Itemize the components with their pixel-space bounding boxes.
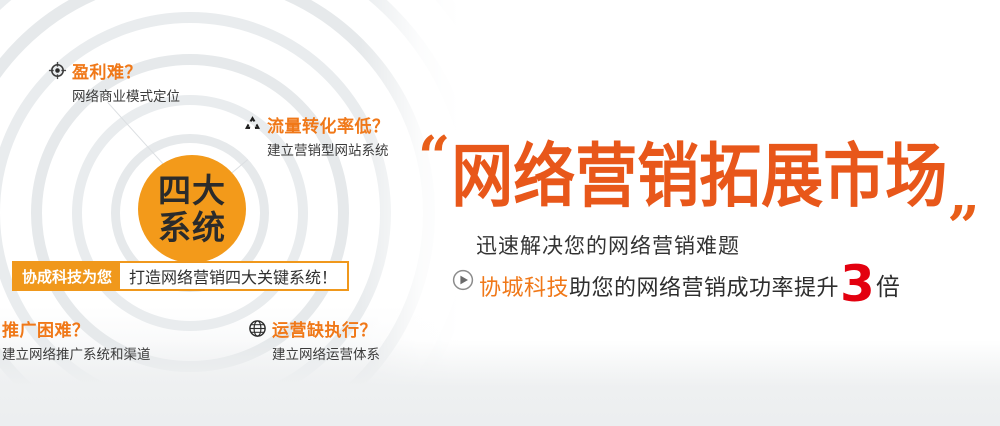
bullet-1-title: 盈利难？ — [72, 58, 142, 83]
bullet-operation-execution: 运营缺执行？ 建立网络运营体系 — [248, 316, 380, 363]
globe-icon — [248, 319, 267, 338]
bullet-4-subtitle: 建立网络运营体系 — [272, 343, 380, 363]
page-title: 网络营销拓展市场 — [451, 133, 947, 220]
bullet-3-title: 推广困难？ — [2, 316, 90, 341]
marketing-banner: 四大 系统 盈利难？ 网络商业模式定位 — [0, 0, 1000, 426]
bullet-2-head: 流量转化率低？ — [243, 112, 390, 137]
tagline-bar-brand: 协成科技为您 — [14, 263, 120, 289]
bullet-3-subtitle: 建立网络推广系统和渠道 — [2, 343, 151, 363]
subheadline-line-1: 迅速解决您的网络营销难题 — [476, 230, 740, 260]
bullet-2-subtitle: 建立营销型网站系统 — [267, 139, 390, 159]
quote-open-icon: “ — [418, 137, 450, 177]
bullet-1-head: 盈利难？ — [48, 58, 180, 83]
headline-row: “ 网络营销拓展市场 „ — [418, 133, 998, 211]
bullet-2-title: 流量转化率低？ — [267, 112, 390, 137]
tagline-bar-message: 打造网络营销四大关键系统！ — [120, 263, 347, 289]
crosshair-target-icon — [48, 61, 67, 80]
bullet-promotion-difficulty: 推广困难？ 建立网络推广系统和渠道 — [2, 316, 151, 363]
bullet-4-head: 运营缺执行？ — [248, 316, 380, 341]
subheadline-line-2-rest: 助您的网络营销成功率提升 — [569, 270, 839, 302]
bullet-low-conversion: 流量转化率低？ 建立营销型网站系统 — [243, 112, 390, 159]
bullet-profit-difficulty: 盈利难？ 网络商业模式定位 — [48, 58, 180, 105]
subheadline-line-2: 协城科技 助您的网络营销成功率提升 3 倍 — [452, 258, 900, 302]
brand-name: 协城科技 — [479, 270, 569, 302]
multiplier-unit: 倍 — [876, 267, 900, 302]
multiplier-number: 3 — [840, 264, 875, 304]
bullet-4-title: 运营缺执行？ — [272, 316, 377, 341]
play-circle-icon — [452, 269, 474, 291]
quote-close-icon: „ — [948, 175, 980, 215]
recycle-icon — [243, 115, 262, 134]
center-circle-line-1: 四大 — [158, 172, 226, 209]
tagline-bar: 协成科技为您 打造网络营销四大关键系统！ — [12, 261, 349, 291]
bullet-1-subtitle: 网络商业模式定位 — [72, 85, 180, 105]
bullet-3-head: 推广困难？ — [2, 316, 151, 341]
center-circle-line-2: 系统 — [158, 209, 226, 246]
center-circle-four-systems: 四大 系统 — [138, 155, 246, 263]
headline-block: “ 网络营销拓展市场 „ — [418, 133, 998, 211]
